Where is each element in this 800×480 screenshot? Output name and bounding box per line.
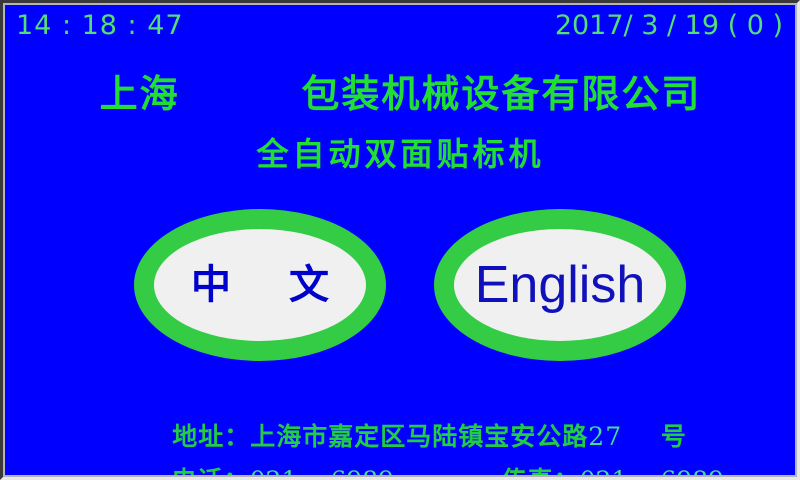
status-clock: 14 : 18 : 47 [16, 11, 184, 41]
fax-label: 传真： [502, 466, 580, 475]
machine-model-title: 全自动双面贴标机 [6, 135, 795, 173]
language-button-chinese[interactable]: 中 文 [134, 209, 386, 361]
status-date: 2017/ 3 / 19 ( 0 ) [555, 11, 783, 41]
language-button-english-label: English [475, 257, 646, 313]
fax-number: 021 －6989 [580, 466, 724, 475]
button-face: English [454, 229, 666, 341]
screen-canvas: 14 : 18 : 47 2017/ 3 / 19 ( 0 ) 上海 包装机械设… [5, 5, 795, 475]
hmi-screen: 14 : 18 : 47 2017/ 3 / 19 ( 0 ) 上海 包装机械设… [0, 0, 800, 480]
company-name-title: 上海 包装机械设备有限公司 [6, 72, 795, 116]
contact-row: 电话：021 －6989 传真：021 －6989 [6, 436, 795, 470]
language-button-chinese-label: 中 文 [169, 263, 351, 307]
language-button-english[interactable]: English [434, 209, 686, 361]
phone-label: 电话： [172, 466, 250, 475]
company-fax: 传真：021 －6989 [424, 436, 724, 475]
company-phone: 电话：021 －6989 [94, 436, 394, 475]
phone-number: 021 －6989 [250, 466, 394, 475]
button-face: 中 文 [154, 229, 366, 341]
